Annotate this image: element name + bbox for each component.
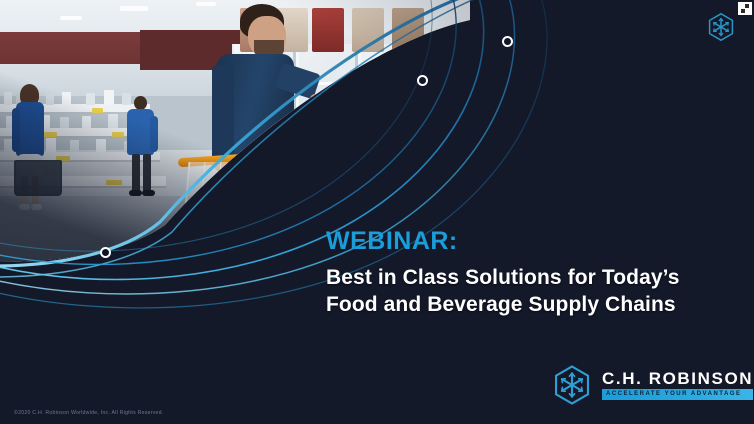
freezer-door-shelf — [361, 124, 417, 127]
freezer-door-shelf — [423, 82, 470, 85]
headline-line-2: Food and Beverage Supply Chains — [326, 293, 676, 316]
headline-line-1: Best in Class Solutions for Today’s — [326, 266, 680, 289]
title-block: WEBINAR: Best in Class Solutions for Tod… — [326, 228, 726, 319]
cart-grid-bar — [232, 162, 238, 218]
cart-grid-bar — [248, 162, 254, 218]
fullscreen-glyph — [738, 2, 752, 15]
webinar-title-slide: WEBINAR: Best in Class Solutions for Tod… — [0, 0, 754, 424]
corner-hexagon-snowflake-icon — [706, 12, 736, 42]
hexagon-snowflake-icon — [551, 364, 593, 406]
brand-tagline: ACCELERATE YOUR ADVANTAGE — [606, 391, 749, 397]
freezer-door-shelf — [361, 168, 417, 171]
freezer-glass-door — [358, 44, 420, 224]
freezer-door-shelf — [423, 124, 470, 127]
webinar-headline: Best in Class Solutions for Today’s Food… — [326, 264, 726, 319]
freezer-door-shelf — [361, 82, 417, 85]
cart-grid-bar — [264, 162, 270, 218]
hero-photo-region — [0, 0, 754, 424]
arc-node-lower-left — [100, 247, 111, 258]
cart-grid-bar — [280, 162, 286, 218]
fullscreen-expand-icon[interactable] — [738, 2, 752, 15]
webinar-kicker: WEBINAR: — [326, 228, 726, 256]
freezer-glass-door — [420, 44, 470, 224]
logo-wordmark-group: C.H. ROBINSON ACCELERATE YOUR ADVANTAGE — [602, 370, 753, 400]
figure-trousers — [236, 162, 288, 222]
freezer-door-shelf — [299, 124, 355, 127]
freezer-door-shelf — [299, 168, 355, 171]
arc-node-middle — [417, 75, 428, 86]
arc-node-top-right — [502, 36, 513, 47]
freezer-door-shelf — [237, 168, 293, 171]
cart-groceries — [190, 196, 256, 230]
brand-name: C.H. ROBINSON — [602, 370, 753, 387]
copyright-notice: ©2020 C.H. Robinson Worldwide, Inc. All … — [14, 410, 164, 416]
brand-tagline-bar: ACCELERATE YOUR ADVANTAGE — [602, 389, 753, 400]
brand-logo-lockup: C.H. ROBINSON ACCELERATE YOUR ADVANTAGE — [551, 364, 753, 406]
